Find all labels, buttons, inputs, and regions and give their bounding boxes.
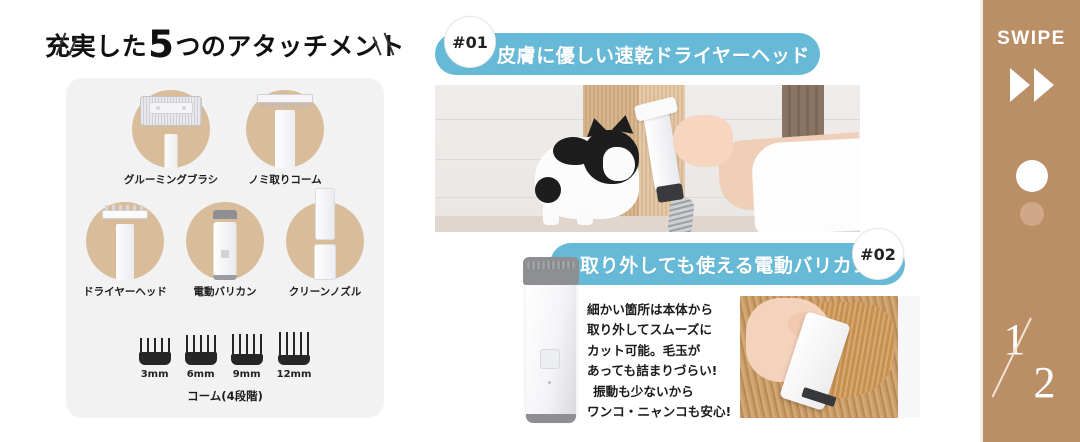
swipe-arrows[interactable] [1010,68,1054,102]
attachments-row-1: グルーミングブラシ ノミ取りコーム [66,90,384,187]
pagination-dots[interactable] [1016,160,1048,226]
comb-icon [231,334,263,365]
pagination-dot-inactive[interactable] [1020,202,1044,226]
attachment-label: 電動バリカン [194,284,257,299]
dryer-head-icon [86,202,164,280]
attachment-label: クリーンノズル [289,284,361,299]
page-counter-total: 2 [1034,357,1056,408]
clean-nozzle-icon [286,202,364,280]
comb-item[interactable]: 3mm [139,338,171,380]
comb-list: 3mm6mm9mm12mm [66,332,384,380]
attachment-dryer-head[interactable]: ドライヤーヘッド [79,202,171,299]
comb-caption: コーム(4段階) [66,388,384,404]
page-title: 充実した5つのアタッチメント [50,22,400,66]
attachments-column: 充実した5つのアタッチメント グルーミングブラシ [0,0,430,442]
clipper-power-button [540,349,560,369]
comb-icon [278,332,310,365]
section-01-number-badge: #01 [444,16,496,68]
cat-with-dryer-photo [435,85,860,232]
comb-label: 12mm [277,369,312,380]
page-counter: 1 2 [982,312,1080,408]
attachment-label: ノミ取りコーム [248,172,321,187]
comb-icon [185,335,217,365]
headline-text: 充実した5つのアタッチメント [45,26,405,63]
chevron-right-icon-2 [1034,68,1054,102]
pagination-dot-active[interactable] [1016,160,1048,192]
section-01-title: 皮膚に優しい速乾ドライヤーヘッド [497,41,810,68]
page-root: 充実した5つのアタッチメント グルーミングブラシ [0,0,1080,442]
swipe-panel[interactable]: SWIPE 1 2 [980,0,1080,442]
section-02-title: 取り外しても使える電動バリカン [580,251,872,278]
comb-label: 6mm [187,369,215,380]
attachment-label: ドライヤーヘッド [83,284,167,299]
comb-label: 3mm [141,369,169,380]
electric-clipper-icon [186,202,264,280]
attachment-grooming-brush[interactable]: グルーミングブラシ [125,90,217,187]
attachment-flea-comb[interactable]: ノミ取りコーム [239,90,331,187]
chevron-right-icon-1 [1010,68,1030,102]
attachment-electric-clipper[interactable]: 電動バリカン [179,202,271,299]
comb-label: 9mm [233,369,261,380]
comb-item[interactable]: 12mm [277,332,312,380]
attachments-card: グルーミングブラシ ノミ取りコーム [66,78,384,418]
comb-item[interactable]: 6mm [185,335,217,380]
section-02-number-badge: #02 [852,228,904,280]
hand-illustration [673,115,733,167]
clipper-product-image [523,253,579,429]
swipe-label: SWIPE [997,28,1066,50]
page-counter-current: 1 [1004,314,1026,365]
grooming-brush-icon [132,90,210,168]
feature-sections: 皮膚に優しい速乾ドライヤーヘッド #01 [430,0,980,442]
comb-set: 3mm6mm9mm12mm コーム(4段階) [66,332,384,404]
headline-number: 5 [147,28,175,61]
attachment-clean-nozzle[interactable]: クリーンノズル [279,202,371,299]
comb-icon [139,338,171,365]
hand-clipper-on-dog-fur-photo [740,296,920,418]
attachments-row-2: ドライヤーヘッド 電動バリカン クリーン [66,202,384,299]
flea-comb-icon [246,90,324,168]
comb-item[interactable]: 9mm [231,334,263,380]
headline-suffix: つのアタッチメント [175,27,405,63]
attachment-label: グルーミングブラシ [124,172,218,187]
